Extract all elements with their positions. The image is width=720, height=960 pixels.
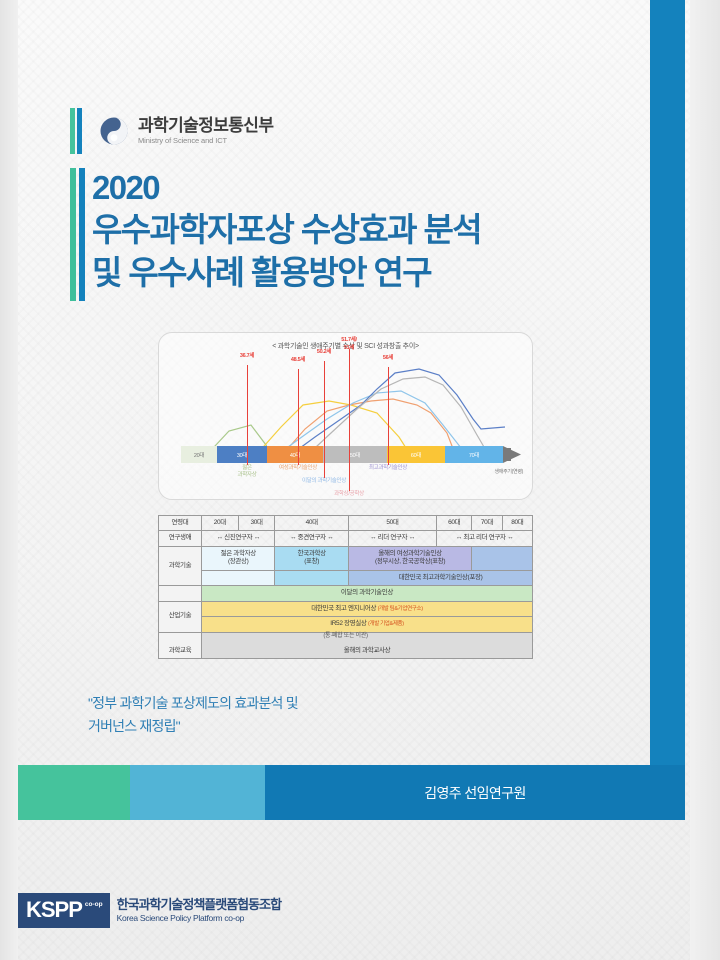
table-cell: 30대	[238, 516, 275, 531]
table-cell: 80대	[502, 516, 532, 531]
merge-note: (통·폐합 또는 이관)	[158, 630, 533, 639]
ministry-logo: 과학기술정보통신부 Ministry of Science and ICT	[70, 108, 273, 154]
marker-tick	[247, 446, 248, 465]
table-cell: 20대	[202, 516, 239, 531]
table-cell: 연구생애	[159, 531, 202, 546]
table-row: 산업기술대한민국 최고 엔지니어상 (개발 팀&기업연구소)	[159, 601, 533, 616]
ministry-accent-bars	[70, 108, 82, 154]
kspp-text: KSPP	[26, 897, 82, 923]
table-cell: 70대	[472, 516, 502, 531]
table-cell: 과학기술	[159, 546, 202, 585]
marker-value: 50.2세	[317, 347, 331, 355]
marker-tick	[298, 446, 299, 465]
age-axis-bar: 70대60대50대40대30대20대 생애주기(연령)	[181, 446, 521, 463]
kspp-coop-text: co-op	[85, 901, 103, 908]
award-label: 최고과학기술인상	[369, 465, 407, 472]
table-row: 이달의 과학기술인상	[159, 586, 533, 601]
kspp-wordmark: KSPP co-op	[18, 893, 110, 928]
footer-name-ko: 한국과학기술정책플랫폼협동조합	[117, 898, 281, 912]
table-cell: 한국과학상(표창)	[275, 546, 348, 570]
title-accent-bars	[70, 168, 85, 301]
ministry-name-en: Ministry of Science and ICT	[138, 136, 273, 145]
marker-line	[247, 365, 248, 446]
table-cell: 50대	[348, 516, 436, 531]
author-name: 김영주 선임연구원	[265, 765, 685, 820]
marker-line	[388, 367, 389, 446]
table-row: 과학기술젊은 과학자상(장관상)한국과학상(표창)올해의 여성과학기술인상(정부…	[159, 546, 533, 570]
table-row: 연구생애↔ 신진연구자 ↔↔ 중견연구자 ↔↔ 리더 연구자 ↔↔ 최고 리더 …	[159, 531, 533, 546]
marker-value: 56세	[383, 353, 393, 361]
table-cell	[159, 586, 202, 601]
table-cell: 산업기술	[159, 601, 202, 632]
left-gutter	[0, 0, 18, 960]
marker-value: 36.7세	[240, 351, 254, 359]
table-row: 대한민국 최고과학기술인상(포장)	[159, 570, 533, 585]
table-cell	[472, 546, 533, 570]
report-subtitle-quote: "정부 과학기술 포상제도의 효과분석 및 거버넌스 재정립"	[88, 692, 298, 737]
table-cell	[202, 570, 275, 585]
marker-tick	[388, 446, 389, 465]
table-cell: 60대	[437, 516, 472, 531]
marker-tick	[324, 446, 325, 478]
table-cell: 젊은 과학자상(장관상)	[202, 546, 275, 570]
table-cell: ↔ 신진연구자 ↔	[202, 531, 275, 546]
table-cell: 연령대	[159, 516, 202, 531]
table-row: 연령대20대30대40대50대60대70대80대	[159, 516, 533, 531]
table-cell: ↔ 리더 연구자 ↔	[348, 531, 436, 546]
band-cyan	[130, 765, 265, 820]
footer-name-en: Korea Science Policy Platform co-op	[117, 913, 281, 923]
taegeuk-icon	[99, 116, 129, 146]
quote-line1: "정부 과학기술 포상제도의 효과분석 및	[88, 692, 298, 715]
marker-line	[324, 361, 325, 446]
table-cell	[275, 570, 348, 585]
right-accent-band	[650, 0, 685, 820]
title-year: 2020	[92, 168, 652, 208]
table-cell: 대한민국 최고과학기술인상(포장)	[348, 570, 532, 585]
marker-tick	[349, 446, 350, 491]
lifecycle-chart: < 과학기술인 생애주기별 수상 및 SCI 성과창출 추이> 70대60대50…	[158, 332, 533, 500]
title-line2: 및 우수사례 활용방안 연구	[92, 251, 652, 294]
table-cell: 올해의 여성과학기술인상(정부시상, 한국공학상(표창)	[348, 546, 471, 570]
marker-line	[349, 349, 350, 446]
table-cell: 이달의 과학기술인상	[202, 586, 533, 601]
award-label: 과학상/공학상	[334, 491, 364, 498]
award-label: 이달의 과학기술인상	[302, 478, 346, 485]
title-line1: 우수과학자포상 수상효과 분석	[92, 208, 652, 251]
ministry-name-ko: 과학기술정보통신부	[138, 117, 273, 135]
award-label: 여성과학기술인상	[279, 465, 317, 472]
marker-line	[298, 369, 299, 446]
quote-line2: 거버넌스 재정립"	[88, 715, 298, 738]
table-cell: 대한민국 최고 엔지니어상 (개발 팀&기업연구소)	[202, 601, 533, 616]
right-gutter	[690, 0, 720, 960]
award-label: 젊은과학자상	[237, 465, 256, 479]
kspp-footer-logo: KSPP co-op 한국과학기술정책플랫폼협동조합 Korea Science…	[18, 893, 281, 928]
axis-arrow-icon	[181, 446, 521, 463]
axis-label: 생애주기(연령)	[494, 468, 523, 475]
table-cell: 40대	[275, 516, 348, 531]
table-cell: ↔ 중견연구자 ↔	[275, 531, 348, 546]
marker-value: 51.7세/51세	[341, 335, 357, 351]
band-green	[18, 765, 130, 820]
page-title: 2020 우수과학자포상 수상효과 분석 및 우수사례 활용방안 연구	[92, 168, 652, 294]
table-cell: ↔ 최고 리더 연구자 ↔	[437, 531, 533, 546]
marker-value: 48.5세	[291, 355, 305, 363]
